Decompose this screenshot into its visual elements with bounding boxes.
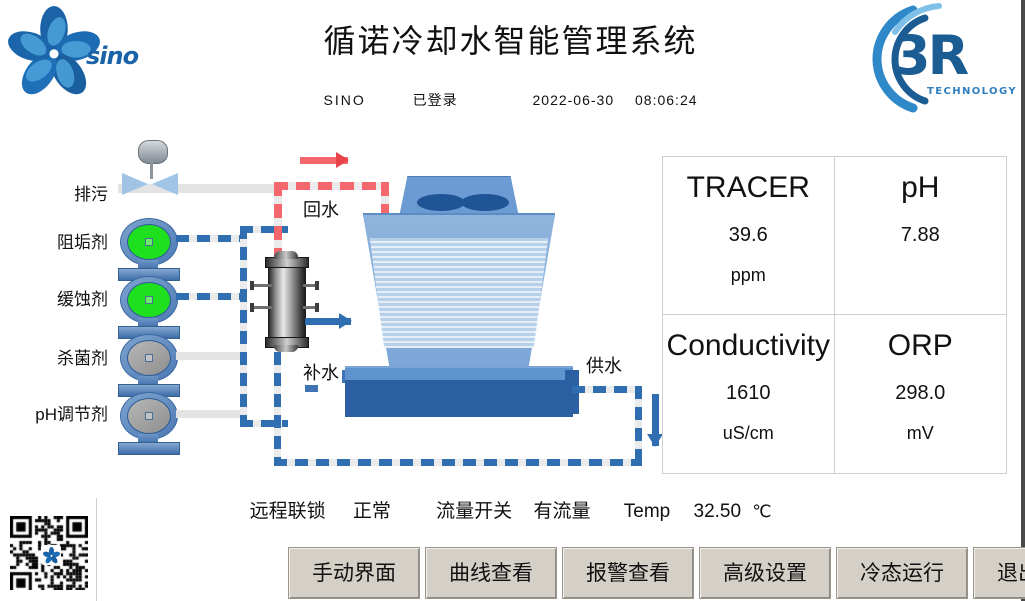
chem-label-ph-adjuster: pH调节剂 — [10, 400, 108, 425]
chem-label-blowdown: 排污 — [18, 180, 108, 205]
chem-label-antiscalant: 阻垢剂 — [18, 228, 108, 253]
manual-interface-button[interactable]: 手动界面 — [288, 547, 420, 599]
logout-button[interactable]: 退出登录 — [973, 547, 1025, 599]
return-water-pipe-right — [381, 182, 389, 216]
header-status-line: SINO 已登录 2022-06-30 08:06:24 — [0, 90, 1021, 110]
remote-interlock-value: 正常 — [353, 496, 391, 523]
measurement-name: ORP — [888, 329, 953, 364]
valve-icon[interactable] — [118, 140, 182, 196]
chem-label-biocide: 杀菌剂 — [18, 344, 108, 369]
cooling-tower-fan-icon-2 — [461, 194, 509, 211]
flow-switch-label: 流量开关 — [436, 496, 512, 523]
return-water-label: 回水 — [300, 196, 342, 222]
supply-water-pipe-bottom — [274, 459, 642, 466]
supply-water-arrow — [651, 394, 660, 446]
header-date: 2022-06-30 — [533, 92, 615, 108]
measurement-cell-conductivity[interactable]: Conductivity 1610 uS/cm — [663, 315, 835, 473]
return-water-arrow — [300, 156, 348, 165]
chem-label-inhibitor: 缓蚀剂 — [18, 285, 108, 310]
dosing-line-biocide — [176, 352, 244, 360]
dosing-line-antiscalant — [176, 235, 244, 242]
header-time: 08:06:24 — [635, 92, 698, 108]
measurement-unit: ppm — [731, 265, 766, 286]
header-login-status: 已登录 — [413, 90, 458, 110]
page-title: 循诺冷却水智能管理系统 — [0, 16, 1021, 62]
dosing-line-inhibitor — [176, 293, 244, 300]
heat-exchanger-icon[interactable] — [262, 250, 310, 352]
cooling-tower-fill — [363, 238, 555, 348]
remote-interlock-label: 远程联锁 — [250, 496, 326, 523]
measurement-unit: mV — [907, 423, 934, 444]
bottom-status-bar: 远程联锁 正常 流量开关 有流量 Temp 32.50 ℃ — [0, 496, 1021, 523]
cooling-tower-fan-icon — [417, 194, 465, 211]
advanced-settings-button[interactable]: 高级设置 — [699, 547, 831, 599]
supply-water-label: 供水 — [583, 352, 625, 378]
measurement-unit: uS/cm — [723, 423, 774, 444]
supply-water-pipe-top — [572, 386, 642, 393]
qr-code-icon[interactable] — [10, 516, 92, 594]
temp-value: 32.50 — [694, 501, 742, 523]
hmi-screen: sino 3R TECHNOLOGY 循诺冷却水智能管理系统 SINO 已登录 … — [0, 0, 1021, 601]
measurement-cell-tracer[interactable]: TRACER 39.6 ppm — [663, 157, 835, 315]
temp-unit: ℃ — [752, 502, 771, 522]
qr-divider — [96, 498, 97, 601]
return-water-pipe-left — [274, 182, 282, 258]
qr-center-logo-icon — [41, 545, 61, 565]
makeup-water-label: 补水 — [300, 359, 342, 385]
measurement-cell-ph[interactable]: pH 7.88 — [835, 157, 1007, 315]
return-water-pipe-top — [274, 182, 389, 190]
measurement-name: Conductivity — [667, 329, 830, 364]
temp-label: Temp — [624, 501, 670, 523]
cold-start-run-button[interactable]: 冷态运行 — [836, 547, 968, 599]
alarm-view-button[interactable]: 报警查看 — [562, 547, 694, 599]
dosing-riser — [240, 226, 247, 424]
pump-antiscalant[interactable] — [118, 218, 178, 280]
measurement-value: 298.0 — [895, 382, 945, 405]
bottom-button-bar: 手动界面 曲线查看 报警查看 高级设置 冷态运行 退出登录 — [288, 547, 1025, 599]
measurement-panel: TRACER 39.6 ppm pH 7.88 Conductivity 161… — [662, 156, 1007, 474]
dosing-line-ph-adjuster — [176, 410, 244, 418]
pump-biocide[interactable] — [118, 334, 178, 396]
curve-view-button[interactable]: 曲线查看 — [425, 547, 557, 599]
measurement-value: 39.6 — [729, 224, 768, 247]
supply-water-pipe-right — [635, 386, 642, 466]
header-username: SINO — [323, 92, 365, 108]
supply-water-pipe-left — [274, 352, 281, 466]
measurement-cell-orp[interactable]: ORP 298.0 mV — [835, 315, 1007, 473]
measurement-name: TRACER — [687, 171, 810, 206]
pump-ph-adjuster[interactable] — [118, 392, 178, 454]
measurement-value: 7.88 — [901, 224, 940, 247]
cooling-tower-basin — [345, 368, 573, 417]
pump-inhibitor[interactable] — [118, 276, 178, 338]
measurement-value: 1610 — [726, 382, 771, 405]
flow-switch-value: 有流量 — [533, 496, 590, 523]
makeup-water-arrow — [305, 317, 351, 326]
measurement-name: pH — [901, 171, 939, 206]
